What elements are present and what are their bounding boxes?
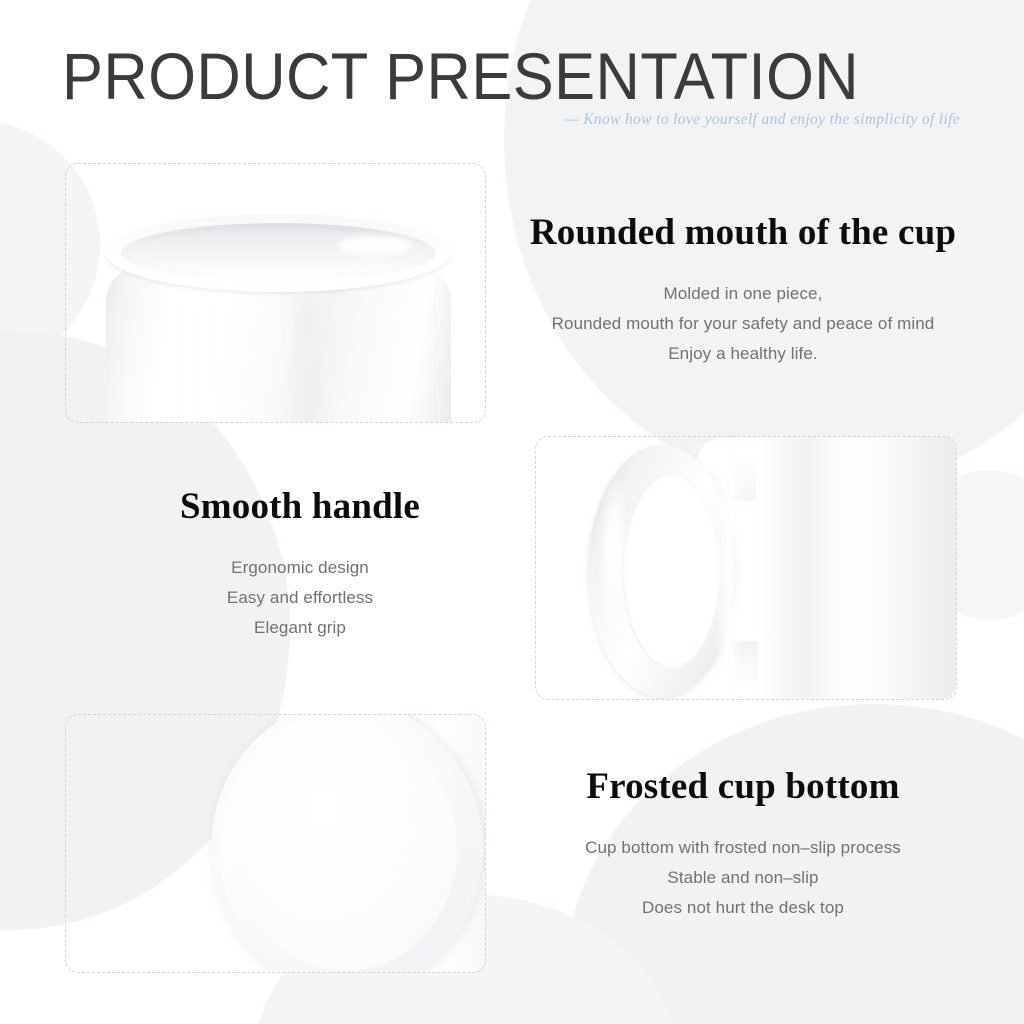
feature-line: Cup bottom with frosted non–slip process [508, 833, 978, 863]
product-presentation-page: PRODUCT PRESENTATION — Know how to love … [0, 0, 1024, 1024]
mug-rim-gloss-highlight [338, 236, 412, 254]
feature-line: Does not hurt the desk top [508, 893, 978, 923]
mug-handle-opening [622, 473, 720, 669]
page-subtitle: — Know how to love yourself and enjoy th… [565, 111, 960, 129]
feature-line: Stable and non–slip [508, 863, 978, 893]
feature-line: Easy and effortless [62, 583, 538, 613]
feature-heading-frosted-bottom: Frosted cup bottom [508, 766, 978, 807]
feature-description-smooth-handle: Ergonomic design Easy and effortless Ele… [62, 553, 538, 643]
page-title: PRODUCT PRESENTATION [62, 43, 859, 109]
feature-description-rounded-mouth: Molded in one piece, Rounded mouth for y… [508, 279, 978, 369]
mug-rim-illustration [106, 214, 451, 422]
mug-bottom-photo-panel [65, 714, 486, 973]
feature-heading-rounded-mouth: Rounded mouth of the cup [508, 212, 978, 253]
feature-line: Enjoy a healthy life. [508, 339, 978, 369]
mug-body-edge-highlight [714, 437, 740, 699]
mug-handle-photo [536, 437, 956, 699]
mug-bottom-photo [66, 715, 485, 972]
mug-handle-photo-panel [535, 436, 957, 700]
feature-line: Rounded mouth for your safety and peace … [508, 309, 978, 339]
mug-rim-photo-panel [65, 163, 486, 423]
mug-rim-highlight [166, 294, 206, 422]
feature-block-rounded-mouth: Rounded mouth of the cup Molded in one p… [508, 212, 978, 369]
feature-line: Ergonomic design [62, 553, 538, 583]
mug-handle-illustration [546, 437, 956, 699]
mug-rim-shade-band [290, 296, 324, 422]
mug-handle-gloss-highlight [604, 461, 624, 671]
feature-line: Elegant grip [62, 613, 538, 643]
mug-rim-photo [66, 164, 485, 422]
feature-description-frosted-bottom: Cup bottom with frosted non–slip process… [508, 833, 978, 923]
feature-block-smooth-handle: Smooth handle Ergonomic design Easy and … [62, 486, 538, 643]
feature-block-frosted-bottom: Frosted cup bottom Cup bottom with frost… [508, 766, 978, 923]
feature-line: Molded in one piece, [508, 279, 978, 309]
mug-bottom-frosted-face [235, 727, 457, 971]
mug-bottom-illustration [211, 715, 485, 972]
feature-heading-smooth-handle: Smooth handle [62, 486, 538, 527]
